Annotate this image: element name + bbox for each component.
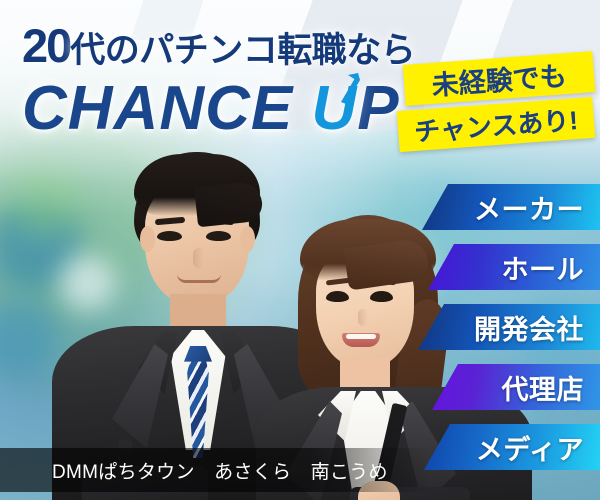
advertisement-banner[interactable]: 20代のパチンコ転職なら CHANCE UP 未経験でも チャンスあり! メーカ… [0, 0, 600, 500]
category-button-hall[interactable]: ホール [428, 244, 600, 290]
logo-part-one: CHANCE [22, 74, 311, 143]
category-button-agency[interactable]: 代理店 [432, 364, 600, 410]
category-button-maker[interactable]: メーカー [422, 184, 600, 230]
headline-number: 20 [22, 19, 70, 72]
category-button-development-company[interactable]: 開発会社 [418, 304, 600, 350]
category-button-media[interactable]: メディア [424, 424, 600, 470]
logo-accent-letter-wrap: U [311, 73, 357, 144]
category-label-development-company: 開発会社 [474, 308, 584, 347]
category-label-hall: ホール [502, 248, 585, 287]
chance-up-logo: CHANCE UP [22, 73, 400, 144]
category-label-media: メディア [476, 428, 584, 467]
headline-text: 20代のパチンコ転職なら [22, 18, 415, 73]
category-label-agency: 代理店 [502, 368, 585, 407]
category-label-maker: メーカー [474, 188, 584, 227]
headline-rest: 代のパチンコ転職なら [70, 31, 415, 70]
credit-text: DMMぱちタウン あさくら 南こうめ [0, 457, 388, 484]
logo-accent-letter: U [311, 74, 357, 143]
credit-bar: DMMぱちタウン あさくら 南こうめ [0, 448, 430, 492]
logo-part-three: P [357, 74, 399, 143]
